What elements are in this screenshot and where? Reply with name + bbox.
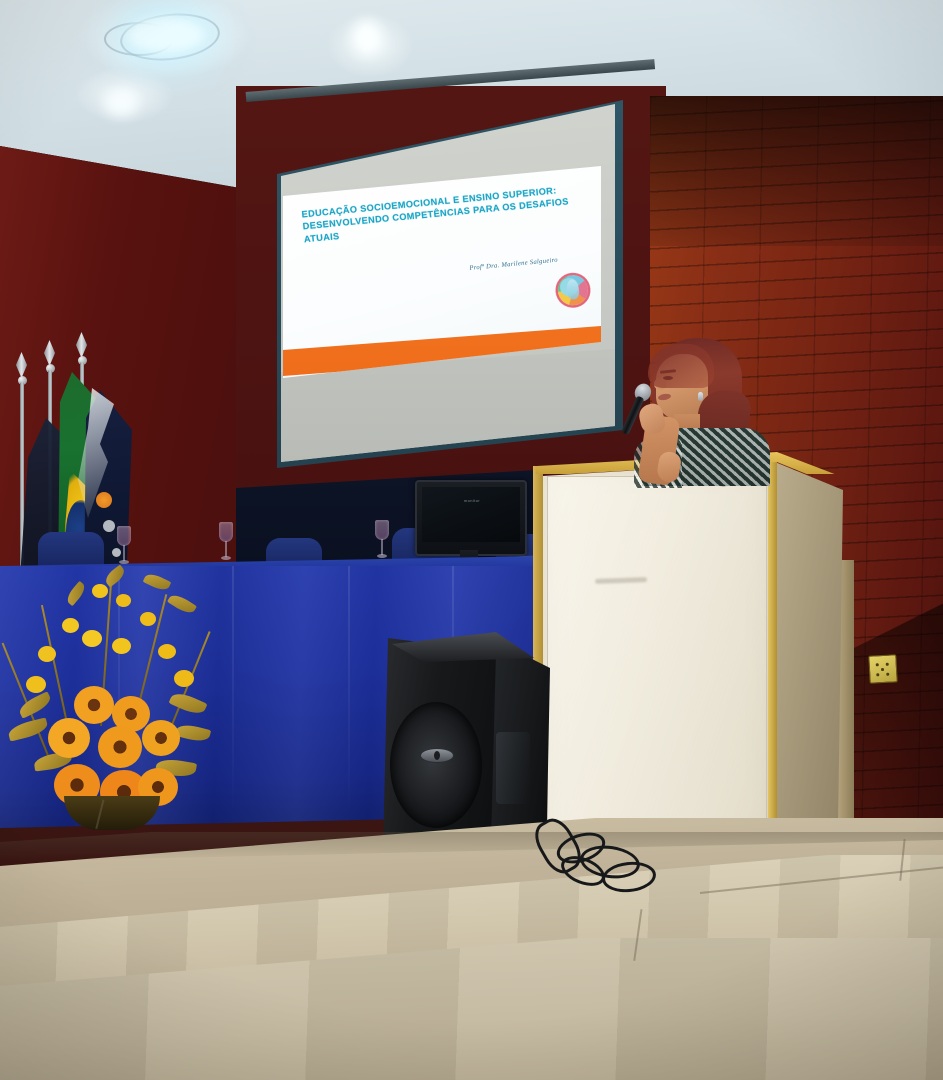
flower-vase	[64, 796, 160, 830]
flower-bud	[26, 676, 46, 693]
flower-bud	[112, 638, 131, 654]
projected-slide: EDUCAÇÃO SOCIOEMOCIONAL E ENSINO SUPERIO…	[283, 166, 601, 378]
presentation-photo-scene: EDUCAÇÃO SOCIOEMOCIONAL E ENSINO SUPERIO…	[0, 0, 943, 1080]
sunflower	[48, 718, 90, 758]
flower-bud	[174, 670, 194, 687]
ceiling-light-icon-3	[352, 20, 382, 54]
flower-bud	[158, 644, 176, 659]
monitor-brand-label: monitor	[459, 498, 485, 505]
institution-logo-icon	[557, 274, 590, 307]
flower-bud	[116, 594, 131, 607]
wall-power-outlet[interactable]	[868, 654, 897, 683]
flower-bud	[62, 618, 79, 633]
sunflower	[74, 686, 114, 724]
wine-glass[interactable]	[218, 522, 234, 564]
sunflower	[98, 726, 142, 768]
speaker-horn-tweeter	[496, 732, 530, 804]
speaker-woofer-icon	[390, 702, 482, 828]
ceiling-light-icon-2	[104, 90, 138, 116]
flag-pernambuco-sun-icon	[96, 492, 112, 508]
sunflower-arrangement	[8, 568, 218, 836]
wine-glass[interactable]	[116, 526, 132, 568]
speaker-brand-badge	[420, 748, 454, 763]
presenter	[600, 330, 780, 480]
flower-bud	[92, 584, 108, 598]
slide-author: Profª Dra. Marilene Salgueiro	[469, 257, 558, 272]
sunflower	[142, 720, 180, 756]
flower-bud	[140, 612, 156, 626]
flower-bud	[82, 630, 102, 647]
flower-bud	[38, 646, 56, 662]
flag-dot	[103, 520, 115, 532]
desktop-monitor[interactable]: monitor	[415, 480, 527, 556]
monitor-screen	[422, 487, 520, 542]
presenter-hair-front	[648, 344, 714, 388]
brick-wall-shadow-top	[650, 96, 943, 246]
ceiling-light-icon-1	[128, 18, 204, 52]
wine-glass[interactable]	[374, 520, 390, 562]
